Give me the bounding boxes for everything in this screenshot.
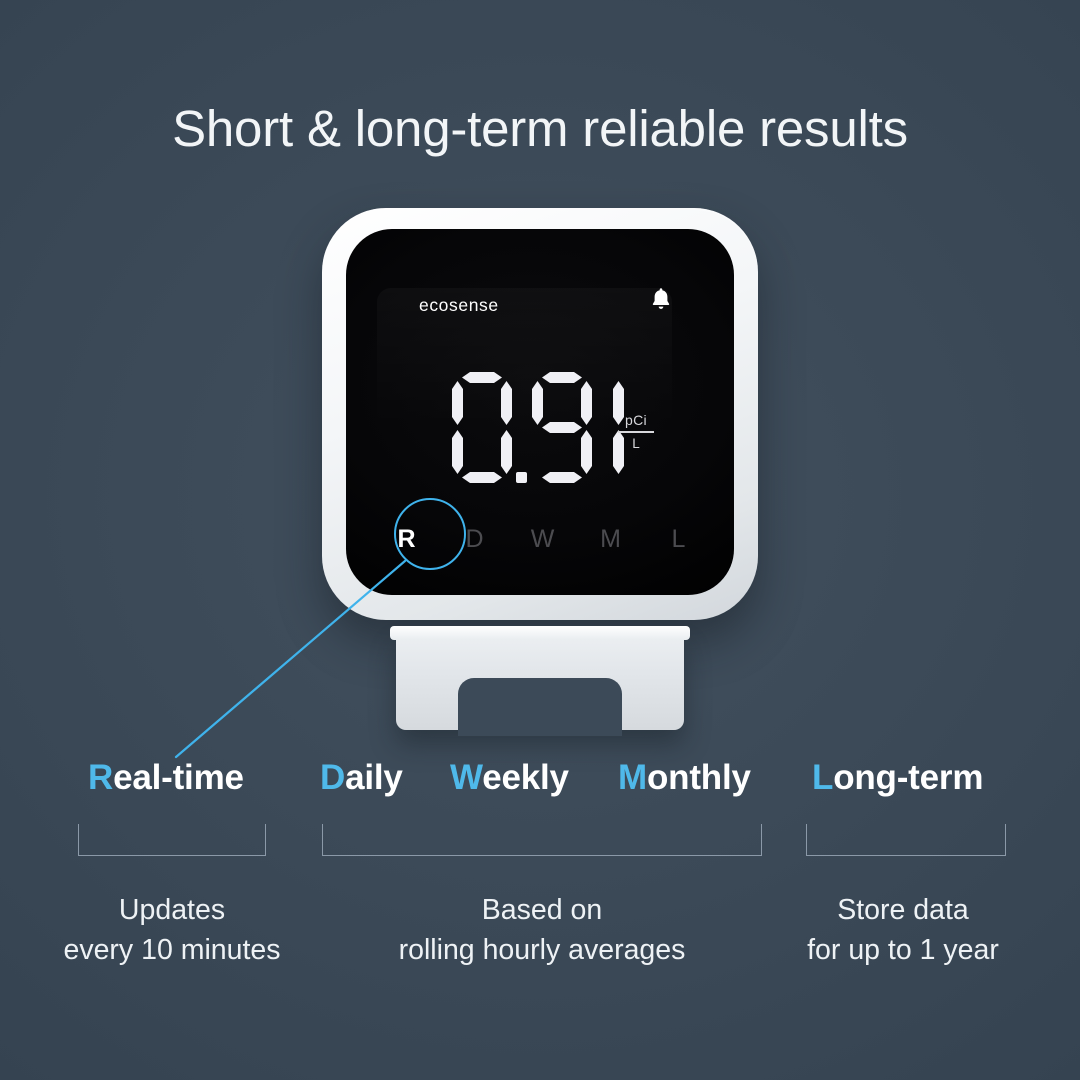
readout-digits [451,372,629,484]
label-rest-daily: aily [345,758,403,797]
caption-rolling: Based on rolling hourly averages [312,890,772,971]
stand-lip [390,626,690,640]
label-key-d: D [320,758,345,797]
label-key-w: W [450,758,482,797]
caption-rolling-line2: rolling hourly averages [312,930,772,970]
unit-numerator: pCi [616,413,656,427]
label-monthly: Monthly [618,758,751,798]
ecosense-logo: ecosense [419,295,499,316]
bracket-long-term [806,824,1006,856]
realtime-highlight-ring [394,498,466,570]
bell-icon [650,287,672,311]
caption-real-time-line2: every 10 minutes [22,930,322,970]
caption-real-time-line1: Updates [22,890,322,930]
label-rest-weekly: eekly [482,758,569,797]
caption-long-term-line1: Store data [770,890,1036,930]
label-rest-real-time: eal-time [113,758,244,797]
label-rest-long-term: ong-term [833,758,983,797]
label-weekly: Weekly [450,758,569,798]
mode-indicator-m[interactable]: M [598,525,624,554]
label-real-time: Real-time [88,758,244,798]
seven-segment-digit-9 [531,372,593,484]
radon-detector-device: ecosense [322,208,758,620]
unit-denominator: L [616,437,656,451]
bracket-real-time [78,824,266,856]
decimal-point [515,372,529,484]
stand-notch [458,678,622,736]
label-long-term: Long-term [812,758,983,798]
mode-indicator-w[interactable]: W [530,525,556,554]
caption-rolling-line1: Based on [312,890,772,930]
label-daily: Daily [320,758,403,798]
caption-long-term-line2: for up to 1 year [770,930,1036,970]
page-title: Short & long-term reliable results [0,101,1080,157]
mode-indicator-d[interactable]: D [462,525,488,554]
label-key-l: L [812,758,833,797]
mode-indicator-l[interactable]: L [666,525,692,554]
label-key-r: R [88,758,113,797]
label-rest-monthly: onthly [647,758,751,797]
mode-label-row: Real-time Daily Weekly Monthly Long-term [0,758,1080,804]
bracket-row [0,824,1080,860]
unit-fraction-bar [618,431,654,433]
seven-segment-digit-0 [451,372,513,484]
device-stand [396,634,684,730]
caption-long-term: Store data for up to 1 year [770,890,1036,971]
radon-readout [346,372,734,484]
bracket-daily-weekly-monthly [322,824,762,856]
unit-label: pCi L [616,413,656,450]
caption-real-time: Updates every 10 minutes [22,890,322,971]
label-key-m: M [618,758,647,797]
